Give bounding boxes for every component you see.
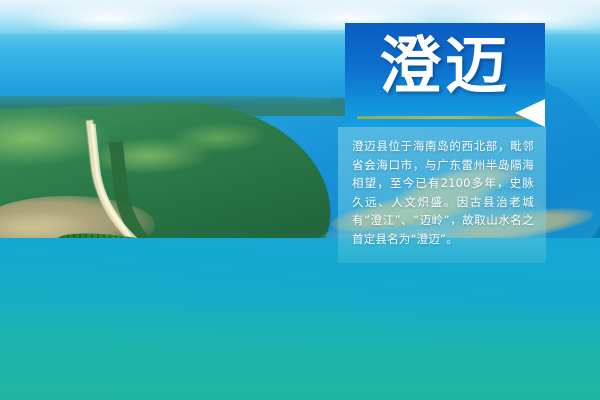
left-triangle-icon [515, 99, 545, 127]
description-text: 澄迈县位于海南岛的西北部，毗邻省会海口市，与广东雷州半岛隔海相望，至今已有210… [352, 137, 534, 248]
foreground-sea-shallow [0, 300, 600, 400]
banner-stage: 澄迈 澄迈县位于海南岛的西北部，毗邻省会海口市，与广东雷州半岛隔海相望，至今已有… [0, 0, 600, 400]
title-divider [357, 116, 525, 119]
cloud-1 [20, 0, 200, 30]
title-panel: 澄迈 [345, 23, 545, 127]
description-panel: 澄迈县位于海南岛的西北部，毗邻省会海口市，与广东雷州半岛隔海相望，至今已有210… [338, 127, 546, 263]
page-title: 澄迈 [345, 26, 545, 106]
